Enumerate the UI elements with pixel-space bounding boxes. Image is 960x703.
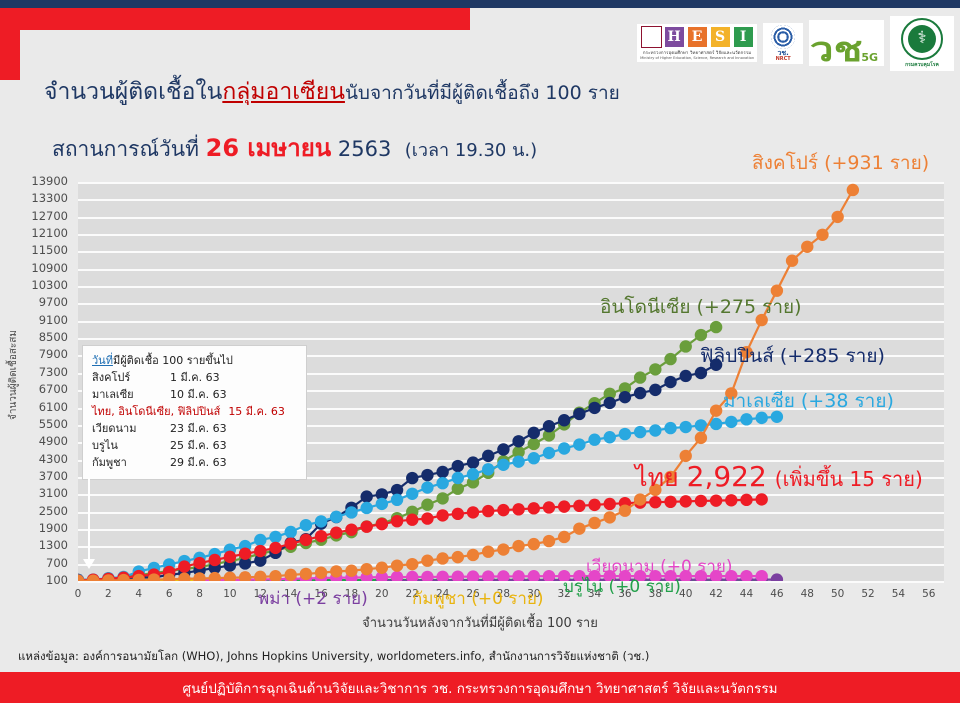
data-point-thailand [330, 526, 342, 538]
data-point-singapore [269, 570, 281, 581]
data-point-singapore [285, 569, 297, 581]
series-label-malaysia: มาเลเซีย (+38 ราย) [723, 386, 894, 416]
top-red-bar [0, 8, 470, 30]
data-point-malaysia [269, 531, 281, 543]
data-point-philippines [512, 435, 524, 447]
data-point-philippines [558, 414, 570, 426]
nrct-acronym-label: NRCT [776, 57, 791, 62]
y-axis-tick-label: 7300 [39, 367, 68, 379]
data-point-thailand [512, 503, 524, 515]
x-axis-title: จำนวนวันหลังจากวันที่มีผู้ติดเชื้อ 100 ร… [0, 612, 960, 633]
data-point-singapore [254, 571, 266, 581]
series-label-cambodia: กัมพูชา (+0 ราย) [412, 585, 544, 612]
data-point-singapore [619, 504, 631, 516]
wok-5g-suffix: 5G [861, 51, 878, 64]
data-point-malaysia [725, 416, 737, 428]
data-point-singapore [315, 567, 327, 579]
data-point-philippines [406, 472, 418, 484]
data-point-malaysia [315, 515, 327, 527]
data-point-philippines [588, 402, 600, 414]
y-axis-tick-label: 6700 [39, 384, 68, 396]
data-point-thailand [436, 509, 448, 521]
data-point-philippines [436, 466, 448, 478]
y-axis-tick-label: 11500 [31, 245, 68, 257]
mhesi-letter-s: S [710, 26, 731, 48]
data-point-thailand [300, 534, 312, 546]
legend-row-country: เวียดนาม [92, 420, 170, 437]
series-label-thailand: ไทย 2,922 (เพิ่มขึ้น 15 ราย) [635, 458, 923, 498]
footer-bar: ศูนย์ปฏิบัติการฉุกเฉินด้านวิจัยและวิชากา… [0, 672, 960, 703]
y-axis-tick-label: 12700 [31, 211, 68, 223]
data-point-singapore [786, 255, 798, 267]
data-point-thailand [573, 500, 585, 512]
y-axis-tick-label: 10900 [31, 263, 68, 275]
data-point-philippines [421, 469, 433, 481]
data-point-singapore [528, 538, 540, 550]
y-axis-tick-label: 3700 [39, 471, 68, 483]
x-axis-tick-label: 8 [196, 588, 203, 600]
data-point-singapore [543, 535, 555, 547]
data-point-malaysia [649, 424, 661, 436]
legend-row: มาเลเซีย10 มี.ค. 63 [92, 386, 297, 403]
x-axis-tick-label: 48 [801, 588, 814, 600]
data-point-philippines [664, 376, 676, 388]
data-point-philippines [497, 443, 509, 455]
x-axis-tick-label: 46 [770, 588, 783, 600]
data-point-malaysia [573, 438, 585, 450]
data-point-philippines [528, 427, 540, 439]
data-point-singapore [482, 545, 494, 557]
data-point-singapore [467, 549, 479, 561]
data-point-singapore [695, 432, 707, 444]
x-axis-tick-label: 0 [75, 588, 82, 600]
data-point-singapore [406, 558, 418, 570]
top-red-stub [0, 8, 20, 80]
data-point-malaysia [436, 477, 448, 489]
data-point-malaysia [634, 426, 646, 438]
data-point-thailand [558, 500, 570, 512]
data-point-philippines [452, 460, 464, 472]
x-axis-tick-label: 52 [861, 588, 874, 600]
data-point-thailand [269, 542, 281, 554]
data-point-philippines [573, 408, 585, 420]
data-point-singapore [345, 565, 357, 577]
data-point-singapore [300, 568, 312, 580]
thailand-delta: (เพิ่มขึ้น 15 ราย) [775, 467, 923, 491]
data-point-vietnam [512, 570, 524, 581]
data-point-singapore [421, 555, 433, 567]
data-point-philippines [649, 384, 661, 396]
data-point-thailand [406, 514, 418, 526]
data-point-malaysia [543, 447, 555, 459]
data-point-singapore [391, 559, 403, 571]
moph-caption: กรมควบคุมโรค [905, 61, 939, 69]
data-point-thailand [421, 512, 433, 524]
data-point-philippines [482, 450, 494, 462]
data-point-malaysia [604, 431, 616, 443]
data-point-malaysia [452, 472, 464, 484]
data-point-thailand [467, 506, 479, 518]
mhesi-logo: M H E S I กระทรวงการอุดมศึกษา วิทยาศาสตร… [637, 24, 757, 62]
data-point-malaysia [360, 502, 372, 514]
data-point-philippines [360, 490, 372, 502]
x-axis-tick-label: 6 [166, 588, 173, 600]
data-point-vietnam [391, 571, 403, 581]
data-point-thailand [209, 554, 221, 566]
mhesi-letter-i: I [733, 26, 754, 48]
x-axis-tick-label: 42 [709, 588, 722, 600]
data-point-singapore [497, 543, 509, 555]
data-point-philippines [604, 397, 616, 409]
y-axis-tick-label: 700 [46, 558, 68, 570]
data-point-malaysia [254, 534, 266, 546]
legend-row: สิงคโปร์1 มี.ค. 63 [92, 369, 297, 386]
series-label-philippines: ฟิลิปปินส์ (+285 ราย) [700, 341, 885, 371]
data-point-singapore [330, 565, 342, 577]
legend-row-date: 15 มี.ค. 63 [228, 403, 285, 420]
data-point-vietnam [740, 570, 752, 581]
legend-heading-underlined: วันที่ [92, 354, 113, 367]
data-point-vietnam [497, 570, 509, 581]
data-point-malaysia [512, 455, 524, 467]
legend-row: กัมพูชา29 มี.ค. 63 [92, 454, 297, 471]
data-point-indonesia [421, 499, 433, 511]
data-point-malaysia [482, 463, 494, 475]
data-point-thailand [254, 545, 266, 557]
thailand-total: 2,922 [687, 460, 767, 493]
page-subtitle: สถานการณ์วันที่ 26 เมษายน 2563 (เวลา 19.… [52, 128, 537, 167]
logo-strip: M H E S I กระทรวงการอุดมศึกษา วิทยาศาสตร… [637, 12, 954, 74]
data-point-singapore [558, 531, 570, 543]
legend-box: วันที่มีผู้ติดเชื้อ 100 รายขึ้นไป สิงคโป… [82, 345, 307, 480]
legend-row: เวียดนาม23 มี.ค. 63 [92, 420, 297, 437]
data-point-thailand [391, 515, 403, 527]
y-axis-tick-label: 6100 [39, 402, 68, 414]
data-point-singapore [588, 517, 600, 529]
data-point-indonesia [634, 371, 646, 383]
mhesi-letter-m: M [641, 26, 662, 48]
subtitle-time: (เวลา 19.30 น.) [405, 140, 537, 161]
data-point-vietnam [482, 570, 494, 581]
data-point-vietnam [436, 571, 448, 581]
data-point-vietnam [406, 571, 418, 581]
data-point-singapore [604, 511, 616, 523]
data-point-malaysia [497, 459, 509, 471]
wok-5g-logo: วช 5G [809, 20, 884, 66]
data-point-vietnam [467, 570, 479, 581]
legend-row-date: 25 มี.ค. 63 [170, 437, 227, 454]
y-axis-tick-label: 8500 [39, 332, 68, 344]
series-label-singapore: สิงคโปร์ (+931 ราย) [752, 148, 929, 178]
x-axis-tick-label: 40 [679, 588, 692, 600]
data-point-singapore [239, 571, 251, 581]
thailand-name: ไทย [635, 463, 679, 492]
legend-row-date: 29 มี.ค. 63 [170, 454, 227, 471]
mhesi-thai-caption: กระทรวงการอุดมศึกษา วิทยาศาสตร์ วิจัยและ… [643, 49, 751, 56]
data-point-malaysia [558, 442, 570, 454]
data-point-thailand [604, 498, 616, 510]
data-point-thailand [193, 557, 205, 569]
x-axis-tick-label: 2 [105, 588, 112, 600]
legend-row-country: มาเลเซีย [92, 386, 170, 403]
y-axis-tick-label: 4300 [39, 454, 68, 466]
series-label-myanmar: พม่า (+2 ราย) [258, 585, 368, 612]
series-label-brunei: บรูไน (+0 ราย) [563, 573, 681, 600]
y-axis-title: จำนวนผู้ติดเชื้อสะสม [6, 330, 21, 420]
data-point-singapore [573, 522, 585, 534]
legend-row-date: 10 มี.ค. 63 [170, 386, 227, 403]
data-point-vietnam [528, 570, 540, 581]
data-point-thailand [497, 504, 509, 516]
data-point-thailand [345, 523, 357, 535]
x-axis-tick-label: 56 [922, 588, 935, 600]
data-point-singapore [710, 404, 722, 416]
data-point-thailand [178, 560, 190, 572]
legend-row-date: 23 มี.ค. 63 [170, 420, 227, 437]
legend-heading-rest: มีผู้ติดเชื้อ 100 รายขึ้นไป [113, 354, 233, 367]
y-axis-tick-label: 13300 [31, 193, 68, 205]
data-point-singapore [360, 563, 372, 575]
legend-rows: สิงคโปร์1 มี.ค. 63มาเลเซีย10 มี.ค. 63ไทย… [92, 369, 297, 471]
data-point-malaysia [680, 421, 692, 433]
data-point-philippines [619, 391, 631, 403]
legend-row-country: บรูไน [92, 437, 170, 454]
subtitle-date: 26 เมษายน [206, 134, 332, 162]
legend-row-country: สิงคโปร์ [92, 369, 170, 386]
data-point-malaysia [528, 452, 540, 464]
x-axis-tick-label: 4 [135, 588, 142, 600]
y-axis-tick-label: 100 [46, 575, 68, 587]
data-point-thailand [588, 499, 600, 511]
legend-row: บรูไน25 มี.ค. 63 [92, 437, 297, 454]
page-title-highlight: กลุ่มอาเซียน [222, 79, 345, 105]
data-point-philippines [634, 387, 646, 399]
y-axis-tick-label: 1300 [39, 540, 68, 552]
top-navy-bar [0, 0, 960, 8]
data-point-philippines [543, 420, 555, 432]
data-point-vietnam [755, 570, 767, 581]
x-axis-tick-label: 54 [892, 588, 905, 600]
data-point-indonesia [436, 492, 448, 504]
data-point-thailand [285, 538, 297, 550]
data-point-malaysia [467, 468, 479, 480]
y-axis-tick-label: 2500 [39, 506, 68, 518]
x-axis-tick-label: 44 [740, 588, 753, 600]
nrct-gear-icon [771, 25, 795, 49]
data-point-singapore [847, 184, 859, 196]
data-point-singapore [801, 241, 813, 253]
data-point-singapore [816, 229, 828, 241]
data-point-malaysia [664, 422, 676, 434]
data-point-myanmar [771, 573, 783, 581]
x-axis-tick-label: 10 [223, 588, 236, 600]
slide-root: M H E S I กระทรวงการอุดมศึกษา วิทยาศาสตร… [0, 0, 960, 703]
x-axis-tick-label: 20 [375, 588, 388, 600]
series-label-indonesia: อินโดนีเซีย (+275 ราย) [600, 292, 802, 322]
data-point-thailand [376, 518, 388, 530]
page-title-part-a: จำนวนผู้ติดเชื้อใน [44, 79, 222, 105]
page-title-part-b: นับจากวันที่มีผู้ติดเชื้อถึง 100 ราย [345, 82, 620, 104]
x-axis-tick-label: 50 [831, 588, 844, 600]
page-title: จำนวนผู้ติดเชื้อในกลุ่มอาเซียนนับจากวันท… [44, 74, 620, 110]
y-axis-tick-label: 7900 [39, 349, 68, 361]
data-point-thailand [543, 501, 555, 513]
data-point-indonesia [649, 363, 661, 375]
source-note: แหล่งข้อมูล: องค์การอนามัยโลก (WHO), Joh… [18, 648, 649, 666]
threshold-arrow-icon [88, 478, 90, 560]
data-point-singapore [209, 572, 221, 581]
data-point-thailand [360, 521, 372, 533]
subtitle-year: 2563 [338, 137, 391, 161]
mhesi-english-caption: Ministry of Higher Education, Science, R… [640, 56, 754, 60]
data-point-malaysia [285, 526, 297, 538]
data-point-vietnam [421, 571, 433, 581]
data-point-vietnam [452, 570, 464, 581]
data-point-malaysia [391, 494, 403, 506]
y-axis-tick-label: 12100 [31, 228, 68, 240]
data-point-thailand [315, 530, 327, 542]
y-axis-tick-label: 4900 [39, 436, 68, 448]
data-point-singapore [831, 211, 843, 223]
data-point-singapore [512, 540, 524, 552]
data-point-thailand [482, 505, 494, 517]
data-point-indonesia [528, 438, 540, 450]
y-axis-tick-label: 3100 [39, 488, 68, 500]
y-axis-tick-label: 1900 [39, 523, 68, 535]
data-point-thailand [452, 508, 464, 520]
data-point-singapore [78, 575, 84, 581]
legend-row: ไทย, อินโดนีเซีย, ฟิลิปปินส์15 มี.ค. 63 [92, 403, 297, 420]
data-point-indonesia [710, 321, 722, 333]
data-point-malaysia [376, 498, 388, 510]
y-axis-tick-label: 13900 [31, 176, 68, 188]
data-point-malaysia [330, 511, 342, 523]
gridline [78, 581, 944, 583]
data-point-philippines [680, 370, 692, 382]
data-point-indonesia [680, 340, 692, 352]
legend-row-country: ไทย, อินโดนีเซีย, ฟิลิปปินส์ [92, 403, 220, 420]
data-point-singapore [452, 551, 464, 563]
caduceus-icon: ⚕ [917, 30, 926, 47]
data-point-thailand [239, 547, 251, 559]
data-point-indonesia [664, 353, 676, 365]
data-point-malaysia [406, 488, 418, 500]
y-axis-tick-label: 10300 [31, 280, 68, 292]
data-point-singapore [224, 572, 236, 581]
data-point-malaysia [619, 428, 631, 440]
data-point-vietnam [543, 570, 555, 581]
mhesi-letter-h: H [664, 26, 685, 48]
wok-thai-mark: วช [810, 37, 863, 64]
moph-logo: ⚕ กรมควบคุมโรค [890, 16, 954, 71]
legend-row-country: กัมพูชา [92, 454, 170, 471]
y-axis-tick-label: 9100 [39, 315, 68, 327]
data-point-malaysia [300, 519, 312, 531]
legend-heading: วันที่มีผู้ติดเชื้อ 100 รายขึ้นไป [92, 352, 297, 369]
moph-seal-icon: ⚕ [901, 18, 943, 60]
data-point-indonesia [452, 482, 464, 494]
subtitle-prefix: สถานการณ์วันที่ [52, 137, 199, 161]
data-point-indonesia [695, 329, 707, 341]
y-axis-tick-label: 9700 [39, 297, 68, 309]
footer-bar-text: ศูนย์ปฏิบัติการฉุกเฉินด้านวิจัยและวิชากา… [0, 677, 960, 699]
data-point-singapore [376, 562, 388, 574]
mhesi-letter-blocks: M H E S I [641, 26, 754, 48]
data-point-malaysia [421, 481, 433, 493]
data-point-thailand [528, 502, 540, 514]
data-point-thailand [224, 551, 236, 563]
mhesi-letter-e: E [687, 26, 708, 48]
data-point-singapore [436, 552, 448, 564]
y-axis-tick-label: 5500 [39, 419, 68, 431]
data-point-malaysia [588, 434, 600, 446]
data-point-malaysia [345, 506, 357, 518]
data-point-philippines [467, 456, 479, 468]
legend-row-date: 1 มี.ค. 63 [170, 369, 220, 386]
nrct-logo: วช. NRCT [763, 23, 803, 64]
